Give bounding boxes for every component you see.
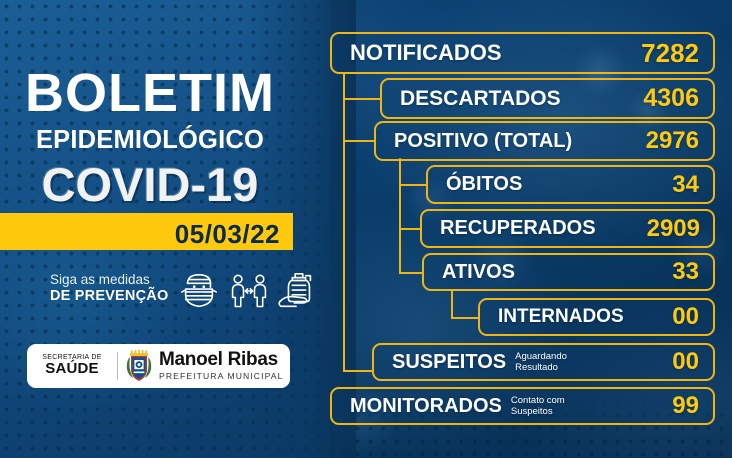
secretaria-saude-logo: SECRETARIA DE SAÚDE <box>27 354 111 378</box>
stat-value: 00 <box>672 303 699 331</box>
stat-value: 2909 <box>647 215 700 243</box>
title-covid19: COVID-19 <box>0 161 300 208</box>
stat-row-internados: INTERNADOS 00 <box>478 298 715 336</box>
stat-row-recuperados: RECUPERADOS 2909 <box>420 209 715 248</box>
title-boletim: BOLETIM <box>0 66 300 120</box>
stat-value: 00 <box>672 348 699 376</box>
face-mask-icon <box>178 270 220 312</box>
stat-row-monitorados: MONITORADOS Contato com Suspeitos 99 <box>330 387 715 425</box>
social-distancing-icon <box>228 270 270 312</box>
date-bar: 05/03/22 <box>0 213 293 250</box>
stat-value: 99 <box>672 392 699 420</box>
stat-row-descartados: DESCARTADOS 4306 <box>380 78 715 119</box>
manoel-ribas-coat-of-arms-icon <box>124 349 154 383</box>
stat-note: Aguardando Resultado <box>515 351 567 373</box>
stat-label: INTERNADOS <box>498 306 624 328</box>
stat-row-ativos: ATIVOS 33 <box>422 253 715 291</box>
stat-note: Contato com Suspeitos <box>511 395 565 417</box>
stat-label: ATIVOS <box>442 261 515 284</box>
stat-label: RECUPERADOS <box>440 217 596 240</box>
stat-label: DESCARTADOS <box>400 87 561 111</box>
city-logo: Manoel Ribas PREFEITURA MUNICIPAL <box>159 350 284 381</box>
logo-bar: SECRETARIA DE SAÚDE Manoel Ribas PREFEIT… <box>27 344 290 388</box>
stat-value: 33 <box>672 258 699 286</box>
prevention-text: Siga as medidas DE PREVENÇÃO <box>50 272 172 304</box>
stat-value: 2976 <box>646 127 699 155</box>
city-subtitle: PREFEITURA MUNICIPAL <box>159 371 284 381</box>
stat-row-positivo: POSITIVO (TOTAL) 2976 <box>374 121 715 161</box>
stat-label: SUSPEITOS <box>392 351 506 374</box>
secretaria-line2: SAÚDE <box>33 361 111 378</box>
stat-value: 4306 <box>643 84 699 113</box>
covid-bulletin-poster: BOLETIM EPIDEMIOLÓGICO COVID-19 05/03/22… <box>0 0 732 458</box>
stat-label: MONITORADOS <box>350 395 502 418</box>
title-epidemiologico: EPIDEMIOLÓGICO <box>0 128 300 154</box>
prevention-line1: Siga as medidas <box>50 272 172 288</box>
stat-row-suspeitos: SUSPEITOS Aguardando Resultado 00 <box>372 343 715 381</box>
hand-sanitizer-icon <box>276 270 320 312</box>
stat-row-notificados: NOTIFICADOS 7282 <box>330 32 715 74</box>
logo-divider <box>117 352 118 380</box>
stat-label: NOTIFICADOS <box>350 40 502 66</box>
stat-label: POSITIVO (TOTAL) <box>394 130 572 153</box>
bulletin-date: 05/03/22 <box>175 219 280 250</box>
stat-value: 34 <box>672 171 699 199</box>
stat-label: ÓBITOS <box>446 173 522 196</box>
city-name: Manoel Ribas <box>159 350 284 369</box>
stat-value: 7282 <box>641 38 699 69</box>
prevention-block: Siga as medidas DE PREVENÇÃO <box>50 272 300 314</box>
stat-row-obitos: ÓBITOS 34 <box>426 165 715 204</box>
poster-title: BOLETIM EPIDEMIOLÓGICO COVID-19 <box>0 66 300 208</box>
prevention-line2: DE PREVENÇÃO <box>50 288 172 305</box>
